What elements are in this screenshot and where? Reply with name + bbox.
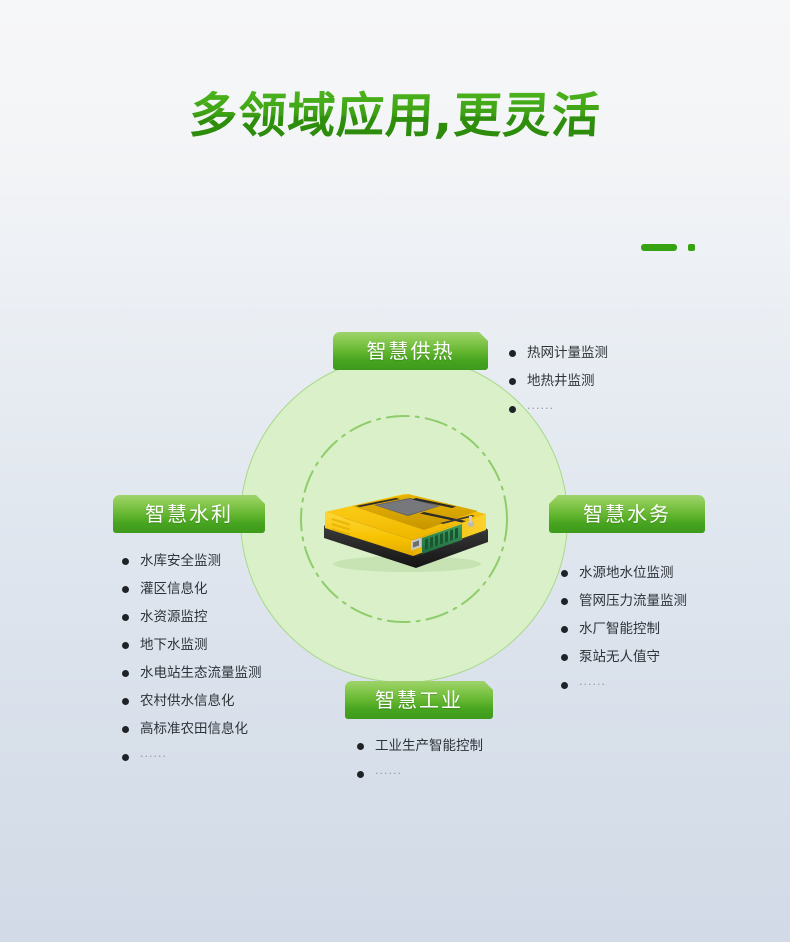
list-item-ellipsis: ······ — [357, 766, 483, 782]
section-label-water-conservancy[interactable]: 智慧水利 — [113, 495, 265, 533]
section-label-industry[interactable]: 智慧工业 — [345, 681, 493, 719]
list-item-ellipsis: ······ — [509, 401, 608, 417]
section-list-industry: 工业生产智能控制 ······ — [357, 738, 483, 794]
green-dot-icon — [688, 244, 695, 251]
list-item: 水电站生态流量监测 — [122, 665, 262, 681]
list-item-ellipsis: ······ — [122, 749, 262, 765]
section-label-heating[interactable]: 智慧供热 — [333, 332, 488, 370]
list-item: 水资源监控 — [122, 609, 262, 625]
green-bar-icon — [641, 244, 677, 251]
list-item: 泵站无人值守 — [561, 649, 687, 665]
list-item-ellipsis: ······ — [561, 677, 687, 693]
list-item: 管网压力流量监测 — [561, 593, 687, 609]
application-scenarios-page: 多领域应用,更灵活 — [0, 0, 790, 942]
list-item: 灌区信息化 — [122, 581, 262, 597]
list-item: 热网计量监测 — [509, 345, 608, 361]
section-list-water-affairs: 水源地水位监测 管网压力流量监测 水厂智能控制 泵站无人值守 ······ — [561, 565, 687, 705]
list-item: 地下水监测 — [122, 637, 262, 653]
section-label-water-affairs[interactable]: 智慧水务 — [549, 495, 705, 533]
rtu-device-image — [312, 468, 498, 572]
section-list-water-conservancy: 水库安全监测 灌区信息化 水资源监控 地下水监测 水电站生态流量监测 农村供水信… — [122, 553, 262, 777]
list-item: 水库安全监测 — [122, 553, 262, 569]
section-list-heating: 热网计量监测 地热井监测 ······ — [509, 345, 608, 429]
decorative-dash-group — [641, 243, 697, 253]
list-item: 水源地水位监测 — [561, 565, 687, 581]
list-item: 水厂智能控制 — [561, 621, 687, 637]
list-item: 高标准农田信息化 — [122, 721, 262, 737]
list-item: 工业生产智能控制 — [357, 738, 483, 754]
list-item: 地热井监测 — [509, 373, 608, 389]
page-title: 多领域应用,更灵活 — [0, 86, 790, 146]
list-item: 农村供水信息化 — [122, 693, 262, 709]
